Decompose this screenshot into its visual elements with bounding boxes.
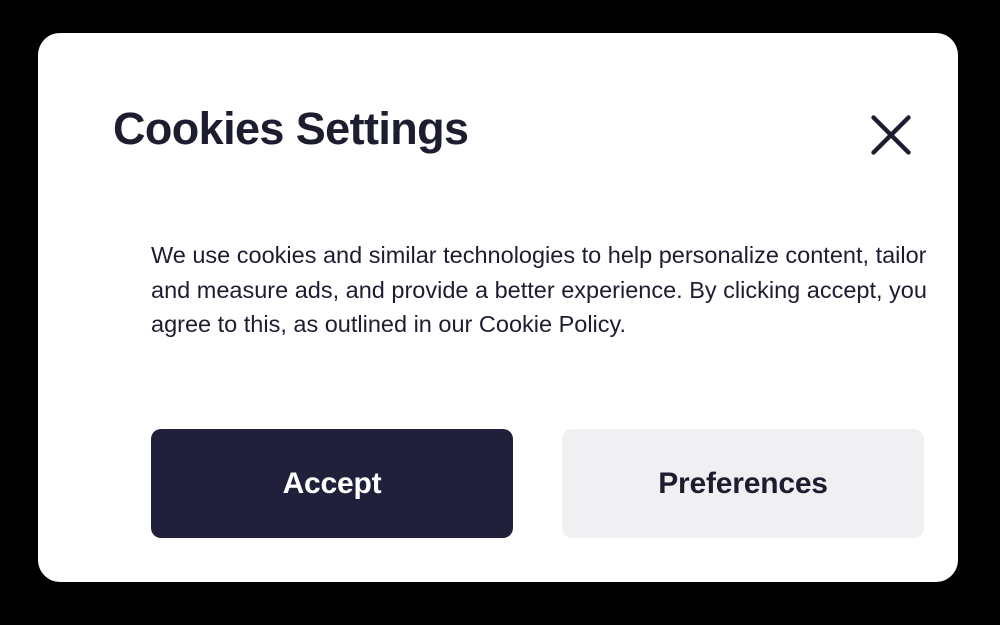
close-button[interactable] (863, 107, 919, 163)
dialog-header: Cookies Settings (113, 105, 922, 163)
preferences-button[interactable]: Preferences (562, 429, 924, 538)
screen-backdrop: Cookies Settings We use cookies and simi… (0, 0, 1000, 625)
cookies-settings-dialog: Cookies Settings We use cookies and simi… (38, 33, 958, 582)
dialog-actions: Accept Preferences (151, 429, 924, 538)
page-title: Cookies Settings (113, 105, 468, 152)
close-icon (871, 115, 911, 155)
dialog-description: We use cookies and similar technologies … (151, 238, 935, 342)
accept-button[interactable]: Accept (151, 429, 513, 538)
